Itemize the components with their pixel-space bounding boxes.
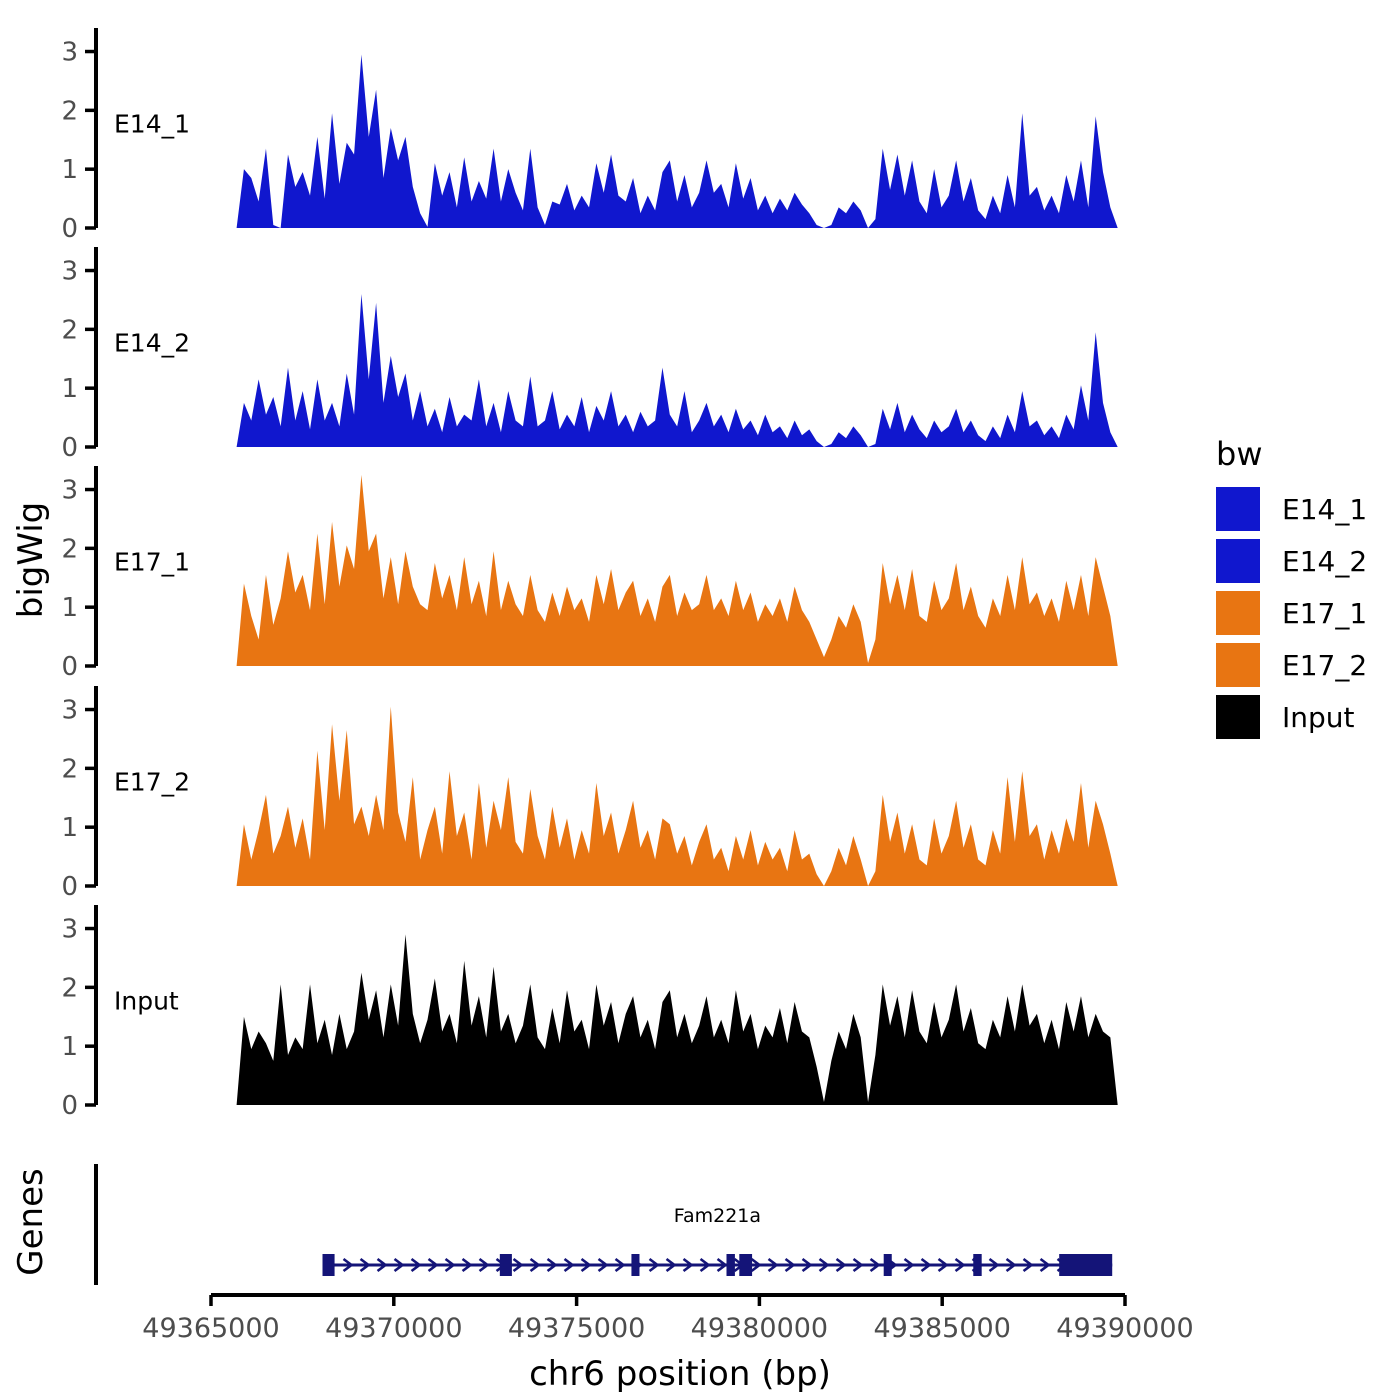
y-tick-label: 2 xyxy=(61,754,78,784)
y-axis-title: bigWig xyxy=(11,502,51,619)
legend-swatch-input[interactable] xyxy=(1216,695,1260,739)
y-tick-label: 1 xyxy=(61,374,78,404)
signal-area-e17_2 xyxy=(237,707,1118,886)
y-tick-label: 3 xyxy=(61,257,78,287)
y-tick-label: 0 xyxy=(61,433,78,463)
gene-panel: Fam221a xyxy=(96,1164,1112,1285)
track-panel-e14_2: 0123E14_2 xyxy=(61,247,1117,463)
x-tick-label: 49390000 xyxy=(1056,1313,1193,1344)
gene-model[interactable] xyxy=(323,1254,1113,1276)
gene-exon-block[interactable] xyxy=(884,1254,892,1276)
signal-area-e14_1 xyxy=(237,54,1118,228)
gene-exon-block[interactable] xyxy=(500,1254,512,1276)
genes-axis-title: Genes xyxy=(11,1168,51,1275)
y-tick-label: 3 xyxy=(61,38,78,68)
legend-swatch-e17_1[interactable] xyxy=(1216,591,1260,635)
y-tick-label: 0 xyxy=(61,214,78,244)
panel-strip-label-e17_1: E17_1 xyxy=(114,548,190,577)
track-panel-e14_1: 0123E14_1 xyxy=(61,28,1117,244)
y-tick-label: 3 xyxy=(61,696,78,726)
y-axis-title-text: bigWig xyxy=(11,502,51,619)
y-tick-label: 0 xyxy=(61,1091,78,1121)
panel-strip-label-e14_2: E14_2 xyxy=(114,329,190,358)
panel-strip-label-e14_1: E14_1 xyxy=(114,110,190,139)
track-panel-e17_1: 0123E17_1 xyxy=(61,466,1117,682)
gene-name-label: Fam221a xyxy=(674,1205,761,1227)
genome-browser-figure: bigWig Genes 0123E14_10123E14_20123E17_1… xyxy=(0,0,1400,1400)
y-tick-label: 2 xyxy=(61,315,78,345)
y-tick-label: 1 xyxy=(61,1032,78,1062)
legend: bw E14_1E14_2E17_1E17_2Input xyxy=(1216,435,1367,739)
x-tick-label: 49370000 xyxy=(325,1313,462,1344)
legend-label-e14_2: E14_2 xyxy=(1282,545,1367,578)
signal-area-e17_1 xyxy=(237,475,1118,666)
signal-area-e14_2 xyxy=(237,294,1118,447)
legend-label-e17_2: E17_2 xyxy=(1282,649,1367,682)
x-tick-label: 49375000 xyxy=(508,1313,645,1344)
y-tick-label: 3 xyxy=(61,915,78,945)
legend-label-e14_1: E14_1 xyxy=(1282,493,1367,526)
gene-exon-block[interactable] xyxy=(323,1254,335,1276)
x-tick-label: 49380000 xyxy=(691,1313,828,1344)
x-tick-label: 49385000 xyxy=(873,1313,1010,1344)
legend-swatch-e14_1[interactable] xyxy=(1216,487,1260,531)
legend-items: E14_1E14_2E17_1E17_2Input xyxy=(1216,487,1367,739)
legend-label-input: Input xyxy=(1282,701,1355,734)
track-panel-e17_2: 0123E17_2 xyxy=(61,686,1117,902)
gene-exon-block[interactable] xyxy=(973,1254,981,1276)
x-axis-title-text: chr6 position (bp) xyxy=(529,1354,831,1394)
y-tick-label: 1 xyxy=(61,593,78,623)
y-tick-label: 1 xyxy=(61,813,78,843)
y-tick-label: 2 xyxy=(61,96,78,126)
signal-area-input xyxy=(237,934,1118,1105)
gene-exon-block[interactable] xyxy=(739,1254,752,1276)
figure-root: bigWig Genes 0123E14_10123E14_20123E17_1… xyxy=(0,0,1400,1400)
panel-strip-label-input: Input xyxy=(114,987,179,1016)
x-axis-ticks: 4936500049370000493750004938000049385000… xyxy=(142,1295,1193,1344)
legend-swatch-e14_2[interactable] xyxy=(1216,539,1260,583)
gene-exon-block[interactable] xyxy=(631,1254,639,1276)
gene-exon-block[interactable] xyxy=(726,1254,734,1276)
track-panels: 0123E14_10123E14_20123E17_10123E17_20123… xyxy=(61,28,1117,1121)
x-tick-label: 49365000 xyxy=(142,1313,279,1344)
legend-title-text: bw xyxy=(1216,435,1262,473)
y-tick-label: 0 xyxy=(61,652,78,682)
y-tick-label: 2 xyxy=(61,534,78,564)
panel-strip-label-e17_2: E17_2 xyxy=(114,768,190,797)
legend-swatch-e17_2[interactable] xyxy=(1216,643,1260,687)
gene-exon-block[interactable] xyxy=(1059,1254,1112,1276)
genes-axis-title-text: Genes xyxy=(11,1168,51,1275)
track-panel-input: 0123Input xyxy=(61,905,1117,1121)
y-tick-label: 0 xyxy=(61,872,78,902)
y-tick-label: 1 xyxy=(61,155,78,185)
y-tick-label: 3 xyxy=(61,476,78,506)
legend-label-e17_1: E17_1 xyxy=(1282,597,1367,630)
x-axis: 4936500049370000493750004938000049385000… xyxy=(142,1295,1193,1394)
y-tick-label: 2 xyxy=(61,973,78,1003)
